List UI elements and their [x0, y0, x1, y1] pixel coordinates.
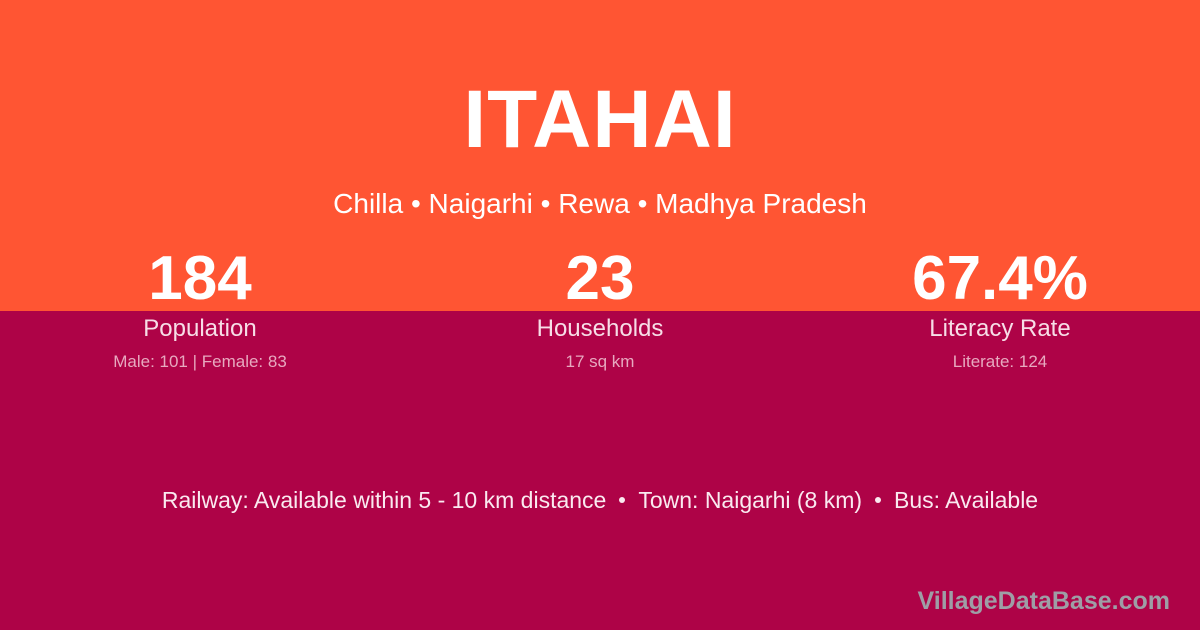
page-title: ITAHAI: [0, 0, 1200, 161]
bullet-separator-icon: [619, 497, 625, 503]
stat-sublabel: Male: 101 | Female: 83: [0, 352, 400, 372]
stat-label: Households: [400, 315, 800, 343]
stat-value: 184: [0, 246, 400, 312]
facilities-row: Railway: Available within 5 - 10 km dist…: [0, 485, 1200, 515]
facility-town: Town: Naigarhi (8 km): [638, 485, 862, 515]
stat-households: 23 Households 17 sq km: [400, 246, 800, 372]
stat-sublabel: 17 sq km: [400, 352, 800, 372]
site-watermark: VillageDataBase.com: [918, 587, 1170, 615]
stats-row: 184 Population Male: 101 | Female: 83 23…: [0, 246, 1200, 372]
footer: VillageDataBase.com: [918, 586, 1170, 616]
stat-value: 23: [400, 246, 800, 312]
stat-label: Population: [0, 315, 400, 343]
facility-railway: Railway: Available within 5 - 10 km dist…: [162, 485, 606, 515]
breadcrumb: Chilla • Naigarhi • Rewa • Madhya Prades…: [0, 161, 1200, 220]
bullet-separator-icon: [875, 497, 881, 503]
facility-bus: Bus: Available: [894, 485, 1038, 515]
stat-label: Literacy Rate: [800, 315, 1200, 343]
village-info-card: ITAHAI Chilla • Naigarhi • Rewa • Madhya…: [0, 0, 1200, 630]
header: ITAHAI Chilla • Naigarhi • Rewa • Madhya…: [0, 0, 1200, 220]
stat-population: 184 Population Male: 101 | Female: 83: [0, 246, 400, 372]
stat-sublabel: Literate: 124: [800, 352, 1200, 372]
stat-value: 67.4%: [800, 246, 1200, 312]
stat-literacy-rate: 67.4% Literacy Rate Literate: 124: [800, 246, 1200, 372]
